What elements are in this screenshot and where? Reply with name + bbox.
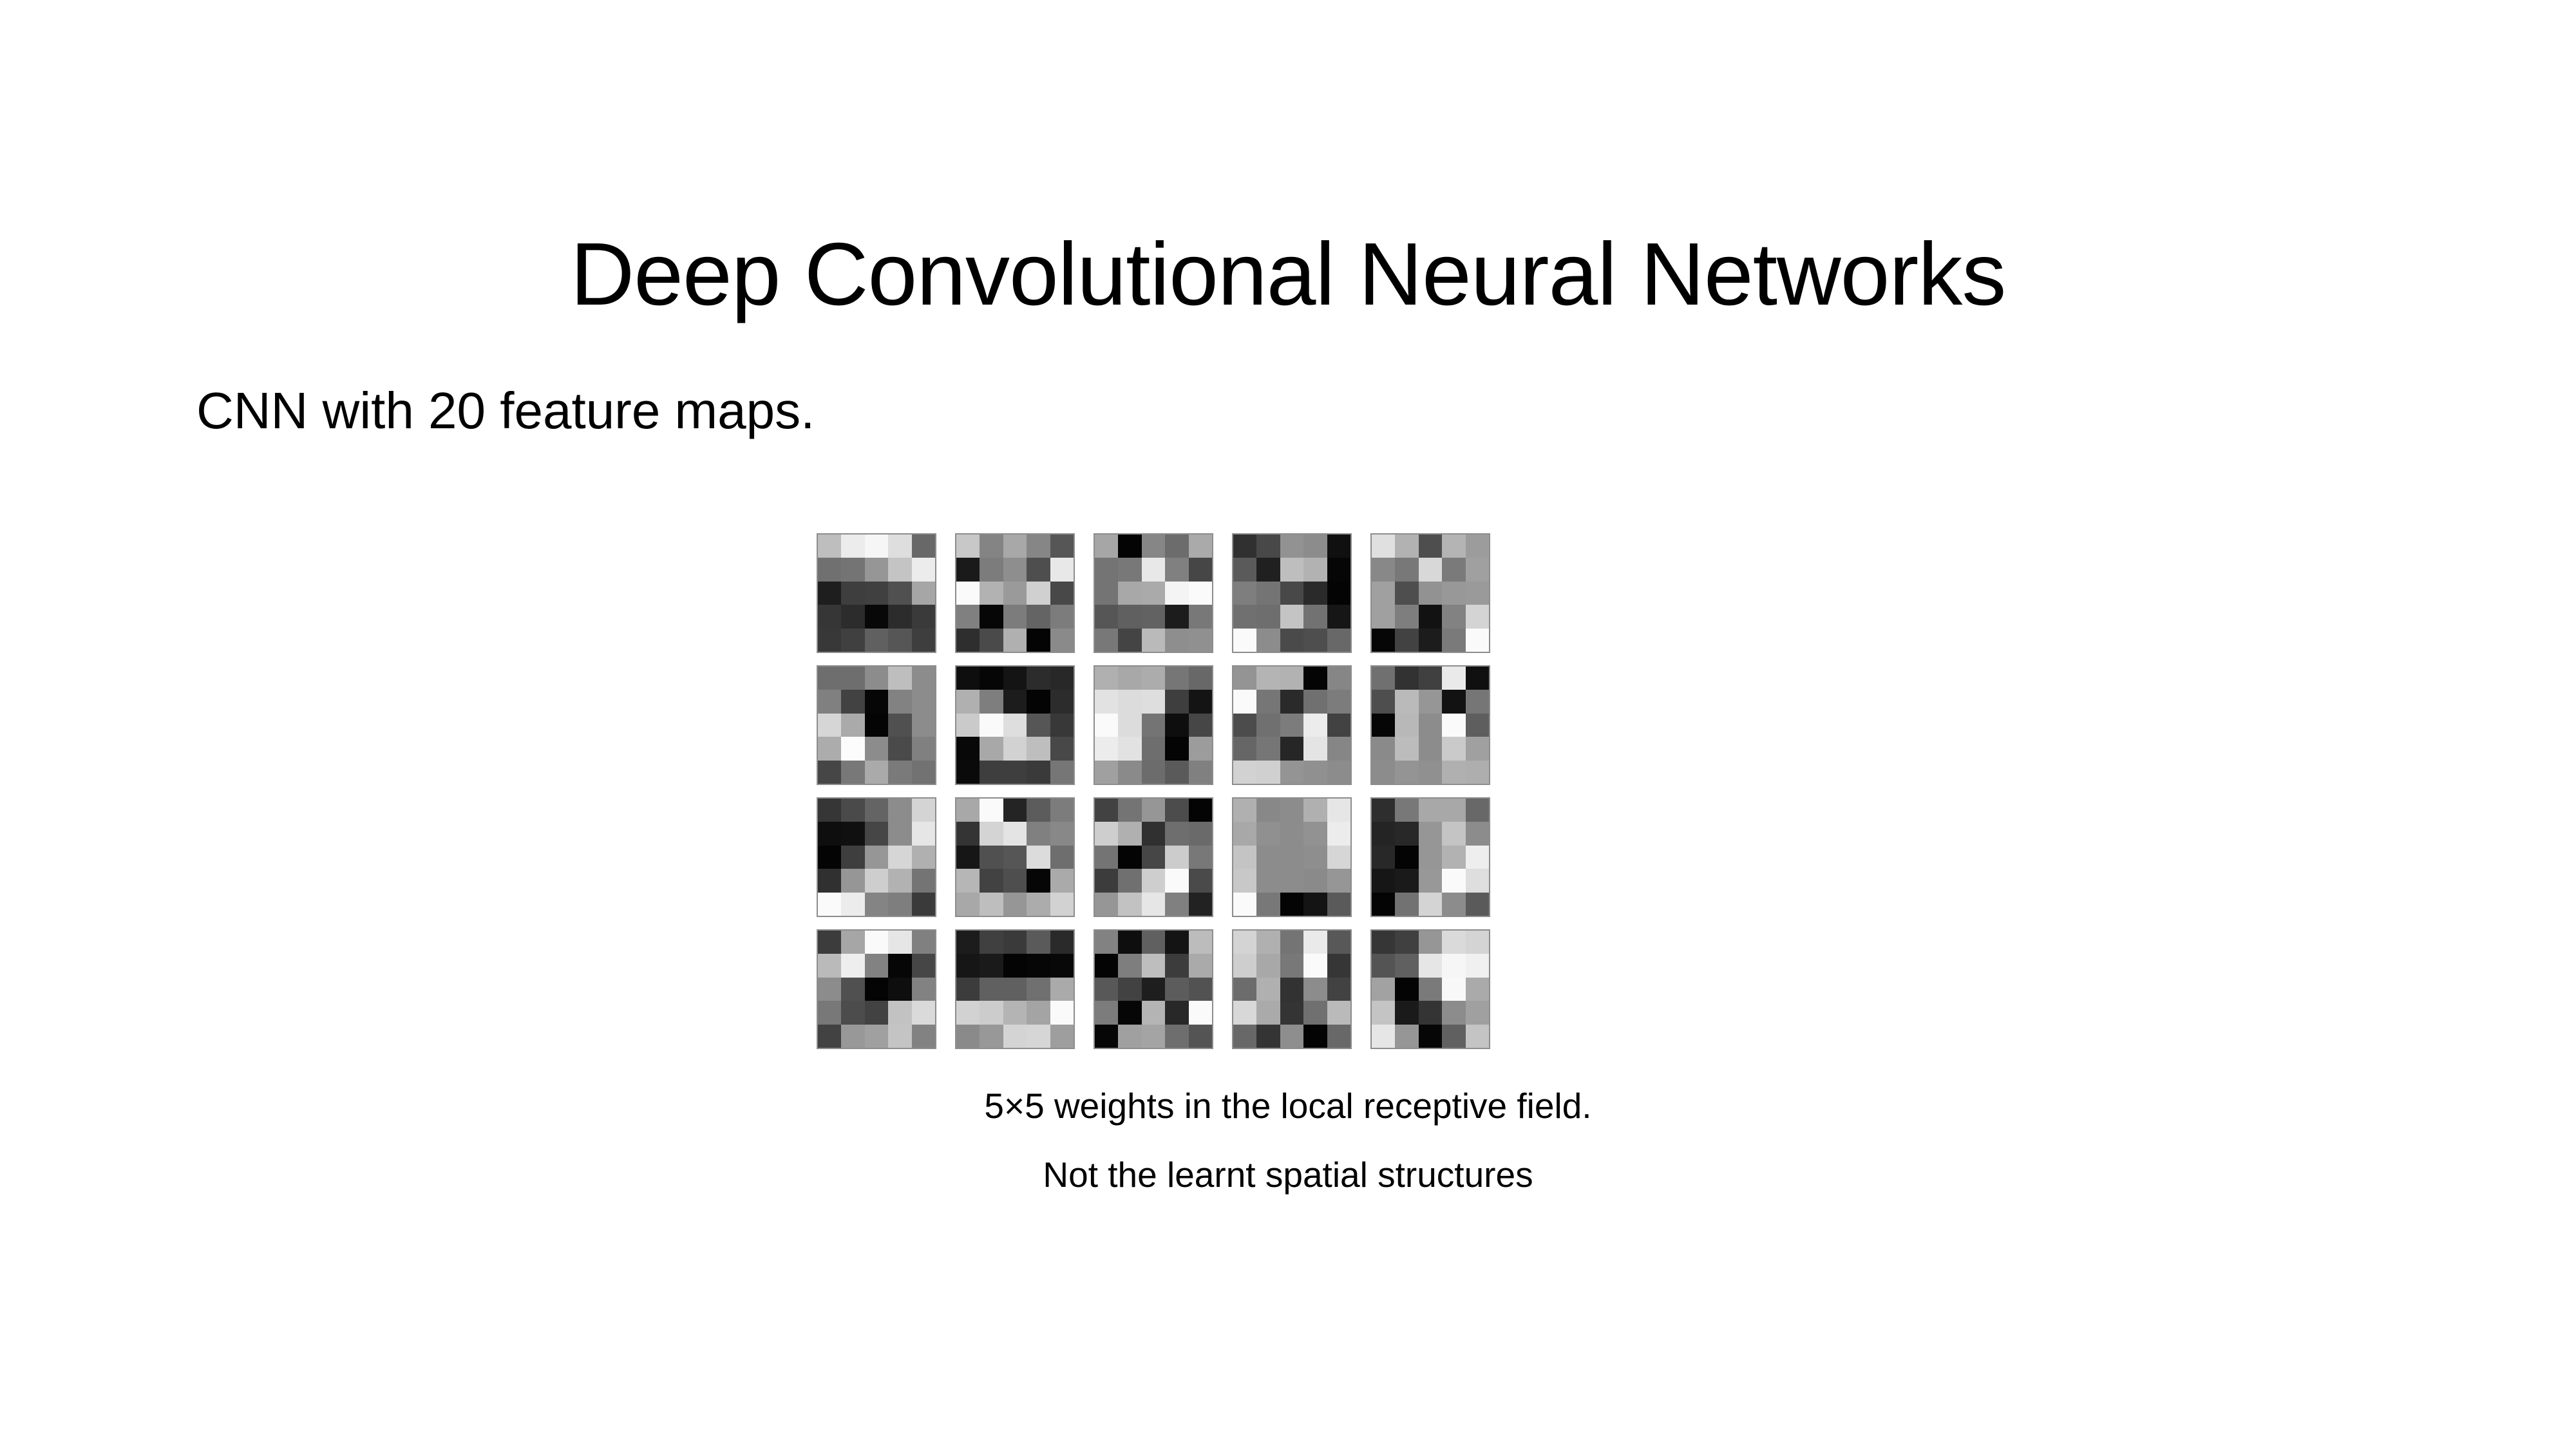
kernel-weight-cell: [1095, 690, 1118, 713]
kernel-weight-cell: [1189, 1001, 1212, 1024]
kernel-weight-cell: [865, 737, 888, 760]
kernel-weight-cell: [1050, 629, 1074, 652]
kernel-weight-cell: [1027, 761, 1050, 784]
kernel-weight-cell: [1165, 931, 1188, 954]
kernel-weight-cell: [956, 893, 980, 916]
kernel-weight-cell: [865, 1001, 888, 1024]
kernel-weight-cell: [1466, 582, 1489, 605]
kernel-tile: [1094, 797, 1213, 917]
kernel-weight-cell: [912, 893, 935, 916]
kernel-weight-cell: [980, 978, 1003, 1001]
kernel-weight-cell: [1142, 714, 1165, 737]
kernel-weight-cell: [1118, 931, 1141, 954]
kernel-weight-cell: [1165, 954, 1188, 977]
kernel-weight-cell: [1442, 1025, 1465, 1048]
kernel-weight-cell: [841, 869, 864, 892]
kernel-weight-cell: [1395, 893, 1418, 916]
caption-line-1: 5×5 weights in the local receptive field…: [0, 1088, 2576, 1124]
kernel-weight-cell: [1327, 535, 1350, 558]
kernel-tile: [1094, 929, 1213, 1049]
kernel-weight-cell: [818, 714, 841, 737]
kernel-weight-cell: [1233, 629, 1256, 652]
kernel-weight-cell: [980, 1025, 1003, 1048]
kernel-weight-cell: [1189, 605, 1212, 628]
kernel-weight-cell: [1256, 535, 1280, 558]
kernel-weight-cell: [1027, 582, 1050, 605]
kernel-weight-cell: [980, 869, 1003, 892]
kernel-weight-cell: [1280, 893, 1303, 916]
kernel-weight-cell: [1165, 1025, 1188, 1048]
kernel-weight-cell: [841, 629, 864, 652]
kernel-weight-cell: [1372, 869, 1395, 892]
kernel-weight-cell: [980, 582, 1003, 605]
kernel-weight-cell: [1442, 978, 1465, 1001]
kernel-weight-cell: [956, 667, 980, 690]
kernel-weight-cell: [1233, 893, 1256, 916]
kernel-weight-cell: [1095, 799, 1118, 822]
kernel-weight-cell: [1003, 869, 1027, 892]
kernel-weight-cell: [1003, 761, 1027, 784]
kernel-weight-cell: [888, 931, 911, 954]
kernel-weight-cell: [980, 714, 1003, 737]
kernel-weight-cell: [1395, 714, 1418, 737]
kernel-weight-cell: [1189, 846, 1212, 869]
kernel-weight-cell: [1050, 846, 1074, 869]
kernel-weight-cell: [1442, 629, 1465, 652]
kernel-weight-cell: [1327, 558, 1350, 581]
page-title: Deep Convolutional Neural Networks: [0, 230, 2576, 319]
kernel-weight-cell: [1165, 761, 1188, 784]
kernel-weight-cell: [888, 737, 911, 760]
kernel-weight-cell: [1327, 1025, 1350, 1048]
kernel-weight-cell: [865, 582, 888, 605]
kernel-weight-cell: [818, 582, 841, 605]
kernel-weight-cell: [865, 893, 888, 916]
kernel-weight-cell: [956, 1025, 980, 1048]
kernel-weight-cell: [1419, 893, 1442, 916]
kernel-weight-cell: [912, 954, 935, 977]
kernel-weight-cell: [1419, 846, 1442, 869]
kernel-weight-cell: [1095, 558, 1118, 581]
kernel-weight-cell: [1003, 535, 1027, 558]
kernel-weight-cell: [1372, 535, 1395, 558]
kernel-weight-cell: [1280, 605, 1303, 628]
kernel-weight-cell: [818, 893, 841, 916]
kernel-weight-cell: [1280, 535, 1303, 558]
kernel-weight-cell: [1003, 822, 1027, 845]
kernel-weight-cell: [912, 761, 935, 784]
kernel-weight-cell: [1256, 737, 1280, 760]
kernel-weight-cell: [1233, 931, 1256, 954]
kernel-weight-cell: [956, 931, 980, 954]
kernel-tile: [955, 797, 1075, 917]
kernel-weight-cell: [1189, 1025, 1212, 1048]
kernel-weight-cell: [980, 761, 1003, 784]
kernel-weight-cell: [888, 978, 911, 1001]
kernel-tile: [1370, 797, 1490, 917]
kernel-weight-cell: [865, 535, 888, 558]
kernel-weight-cell: [1118, 737, 1141, 760]
kernel-weight-cell: [1027, 558, 1050, 581]
caption-line-2: Not the learnt spatial structures: [0, 1157, 2576, 1193]
kernel-weight-cell: [1256, 714, 1280, 737]
kernel-weight-cell: [1003, 714, 1027, 737]
kernel-weight-cell: [818, 931, 841, 954]
kernel-weight-cell: [956, 978, 980, 1001]
kernel-weight-cell: [1327, 893, 1350, 916]
kernel-weight-cell: [1372, 893, 1395, 916]
kernel-weight-cell: [980, 667, 1003, 690]
kernel-weight-cell: [1303, 690, 1327, 713]
kernel-weight-cell: [1442, 761, 1465, 784]
kernel-weight-cell: [1165, 869, 1188, 892]
kernel-weight-cell: [1419, 690, 1442, 713]
kernel-weight-cell: [888, 629, 911, 652]
kernel-weight-cell: [1142, 978, 1165, 1001]
kernel-weight-cell: [1442, 799, 1465, 822]
kernel-weight-cell: [1165, 558, 1188, 581]
kernel-weight-cell: [1395, 846, 1418, 869]
kernel-weight-cell: [1233, 954, 1256, 977]
kernel-weight-cell: [1256, 846, 1280, 869]
kernel-weight-cell: [841, 535, 864, 558]
kernel-weight-cell: [1118, 558, 1141, 581]
kernel-weight-cell: [1303, 893, 1327, 916]
kernel-weight-cell: [1419, 629, 1442, 652]
kernel-weight-cell: [841, 846, 864, 869]
kernel-weight-cell: [1466, 629, 1489, 652]
kernel-weight-cell: [841, 1001, 864, 1024]
kernel-weight-cell: [888, 799, 911, 822]
kernel-weight-cell: [1165, 714, 1188, 737]
kernel-weight-cell: [1395, 869, 1418, 892]
kernel-weight-cell: [1466, 978, 1489, 1001]
kernel-weight-cell: [1118, 822, 1141, 845]
kernel-weight-cell: [1142, 582, 1165, 605]
kernel-weight-cell: [1165, 1001, 1188, 1024]
kernel-weight-cell: [1050, 535, 1074, 558]
kernel-weight-cell: [1442, 690, 1465, 713]
kernel-weight-cell: [1189, 667, 1212, 690]
kernel-weight-cell: [1442, 1001, 1465, 1024]
kernel-weight-cell: [1395, 667, 1418, 690]
kernel-weight-cell: [1118, 667, 1141, 690]
kernel-weight-cell: [980, 737, 1003, 760]
kernel-weight-cell: [841, 582, 864, 605]
kernel-weight-cell: [841, 893, 864, 916]
kernel-weight-cell: [1419, 558, 1442, 581]
kernel-weight-cell: [1165, 893, 1188, 916]
kernel-weight-cell: [1050, 869, 1074, 892]
kernel-weight-cell: [912, 714, 935, 737]
kernel-weight-cell: [1233, 667, 1256, 690]
kernel-weight-cell: [912, 690, 935, 713]
cnn-feature-map-weight-grid: [817, 533, 1492, 1049]
kernel-weight-cell: [1095, 535, 1118, 558]
kernel-weight-cell: [956, 954, 980, 977]
kernel-weight-cell: [1003, 737, 1027, 760]
kernel-weight-cell: [1466, 931, 1489, 954]
kernel-weight-cell: [1118, 714, 1141, 737]
kernel-weight-cell: [1419, 582, 1442, 605]
kernel-weight-cell: [888, 714, 911, 737]
kernel-weight-cell: [1142, 1025, 1165, 1048]
kernel-weight-cell: [980, 846, 1003, 869]
kernel-tile: [1094, 533, 1213, 653]
kernel-weight-cell: [865, 931, 888, 954]
kernel-weight-cell: [888, 869, 911, 892]
kernel-tile: [817, 929, 936, 1049]
kernel-weight-cell: [1027, 931, 1050, 954]
kernel-weight-cell: [1303, 954, 1327, 977]
kernel-weight-cell: [1095, 931, 1118, 954]
kernel-weight-cell: [1372, 931, 1395, 954]
kernel-weight-cell: [1327, 667, 1350, 690]
kernel-weight-cell: [1189, 582, 1212, 605]
kernel-weight-cell: [1027, 893, 1050, 916]
kernel-weight-cell: [1050, 737, 1074, 760]
kernel-weight-cell: [1442, 869, 1465, 892]
kernel-weight-cell: [1118, 605, 1141, 628]
kernel-weight-cell: [1118, 799, 1141, 822]
kernel-tile: [1370, 533, 1490, 653]
kernel-weight-cell: [1372, 690, 1395, 713]
kernel-weight-cell: [1027, 714, 1050, 737]
kernel-weight-cell: [1419, 605, 1442, 628]
kernel-weight-cell: [1003, 931, 1027, 954]
kernel-weight-cell: [1050, 714, 1074, 737]
kernel-weight-cell: [1327, 822, 1350, 845]
kernel-weight-cell: [1327, 978, 1350, 1001]
kernel-weight-cell: [1142, 846, 1165, 869]
kernel-weight-cell: [1142, 690, 1165, 713]
kernel-weight-cell: [841, 714, 864, 737]
kernel-weight-cell: [1395, 1025, 1418, 1048]
kernel-weight-cell: [1327, 690, 1350, 713]
kernel-weight-cell: [1027, 846, 1050, 869]
kernel-weight-cell: [912, 846, 935, 869]
kernel-weight-cell: [1419, 667, 1442, 690]
kernel-weight-cell: [1118, 869, 1141, 892]
kernel-weight-cell: [1095, 1001, 1118, 1024]
kernel-weight-cell: [956, 582, 980, 605]
kernel-weight-cell: [1442, 931, 1465, 954]
kernel-weight-cell: [818, 535, 841, 558]
kernel-weight-cell: [1050, 1001, 1074, 1024]
kernel-weight-cell: [1189, 714, 1212, 737]
body-text-line: CNN with 20 feature maps.: [196, 385, 815, 437]
kernel-weight-cell: [1233, 761, 1256, 784]
kernel-weight-cell: [1419, 737, 1442, 760]
kernel-weight-cell: [912, 799, 935, 822]
kernel-weight-cell: [1050, 761, 1074, 784]
slide-canvas: Deep Convolutional Neural Networks CNN w…: [0, 0, 2576, 1449]
kernel-weight-cell: [1256, 954, 1280, 977]
kernel-weight-cell: [841, 558, 864, 581]
kernel-weight-cell: [1442, 667, 1465, 690]
kernel-weight-cell: [1142, 799, 1165, 822]
kernel-weight-cell: [1256, 869, 1280, 892]
kernel-weight-cell: [1303, 1001, 1327, 1024]
kernel-weight-cell: [1419, 954, 1442, 977]
kernel-weight-cell: [1050, 1025, 1074, 1048]
kernel-weight-cell: [912, 629, 935, 652]
kernel-weight-cell: [1142, 629, 1165, 652]
kernel-weight-cell: [1280, 667, 1303, 690]
kernel-weight-cell: [1442, 846, 1465, 869]
kernel-weight-cell: [841, 954, 864, 977]
kernel-weight-cell: [841, 978, 864, 1001]
kernel-weight-cell: [1280, 799, 1303, 822]
kernel-weight-cell: [912, 558, 935, 581]
kernel-weight-cell: [1466, 893, 1489, 916]
kernel-weight-cell: [1233, 1001, 1256, 1024]
kernel-weight-cell: [1165, 582, 1188, 605]
kernel-weight-cell: [980, 799, 1003, 822]
kernel-weight-cell: [1327, 869, 1350, 892]
kernel-weight-cell: [956, 629, 980, 652]
kernel-tile: [1232, 797, 1352, 917]
kernel-weight-cell: [1142, 737, 1165, 760]
kernel-weight-cell: [1050, 558, 1074, 581]
kernel-weight-cell: [888, 667, 911, 690]
kernel-weight-cell: [1233, 535, 1256, 558]
kernel-weight-cell: [1233, 1025, 1256, 1048]
kernel-weight-cell: [980, 558, 1003, 581]
kernel-weight-cell: [1372, 558, 1395, 581]
kernel-weight-cell: [956, 799, 980, 822]
kernel-weight-cell: [841, 822, 864, 845]
kernel-weight-cell: [888, 1001, 911, 1024]
kernel-weight-cell: [818, 605, 841, 628]
kernel-weight-cell: [865, 761, 888, 784]
kernel-weight-cell: [1372, 822, 1395, 845]
kernel-weight-cell: [1280, 629, 1303, 652]
kernel-weight-cell: [1280, 822, 1303, 845]
kernel-weight-cell: [956, 737, 980, 760]
kernel-weight-cell: [841, 761, 864, 784]
kernel-weight-cell: [912, 667, 935, 690]
kernel-weight-cell: [1165, 605, 1188, 628]
kernel-weight-cell: [1419, 761, 1442, 784]
kernel-tile: [1370, 665, 1490, 785]
kernel-weight-cell: [1303, 931, 1327, 954]
kernel-weight-cell: [865, 954, 888, 977]
kernel-weight-cell: [1442, 582, 1465, 605]
kernel-weight-cell: [1095, 822, 1118, 845]
kernel-weight-cell: [912, 582, 935, 605]
kernel-weight-cell: [1027, 535, 1050, 558]
kernel-weight-cell: [1095, 761, 1118, 784]
kernel-weight-cell: [818, 1025, 841, 1048]
kernel-weight-cell: [1118, 629, 1141, 652]
kernel-weight-cell: [1165, 667, 1188, 690]
kernel-weight-cell: [1256, 558, 1280, 581]
kernel-weight-cell: [1466, 761, 1489, 784]
kernel-weight-cell: [980, 931, 1003, 954]
kernel-weight-cell: [1142, 893, 1165, 916]
kernel-weight-cell: [865, 978, 888, 1001]
kernel-weight-cell: [1003, 629, 1027, 652]
kernel-weight-cell: [818, 869, 841, 892]
kernel-weight-cell: [1142, 605, 1165, 628]
kernel-weight-cell: [1095, 1025, 1118, 1048]
kernel-weight-cell: [1118, 761, 1141, 784]
kernel-weight-cell: [912, 931, 935, 954]
kernel-tile: [817, 665, 936, 785]
kernel-weight-cell: [1466, 1025, 1489, 1048]
kernel-weight-cell: [818, 690, 841, 713]
kernel-weight-cell: [1003, 690, 1027, 713]
kernel-weight-cell: [1233, 869, 1256, 892]
kernel-weight-cell: [1189, 737, 1212, 760]
kernel-weight-cell: [888, 535, 911, 558]
kernel-weight-cell: [1050, 605, 1074, 628]
kernel-weight-cell: [1256, 799, 1280, 822]
kernel-weight-cell: [818, 667, 841, 690]
kernel-tile: [1370, 929, 1490, 1049]
kernel-weight-cell: [1095, 605, 1118, 628]
kernel-weight-cell: [912, 1001, 935, 1024]
kernel-weight-cell: [1303, 667, 1327, 690]
kernel-weight-cell: [1419, 931, 1442, 954]
kernel-weight-cell: [1003, 558, 1027, 581]
kernel-weight-cell: [1003, 582, 1027, 605]
kernel-weight-cell: [1095, 869, 1118, 892]
kernel-weight-cell: [1303, 737, 1327, 760]
kernel-weight-cell: [865, 822, 888, 845]
kernel-weight-cell: [1003, 667, 1027, 690]
kernel-weight-cell: [1395, 1001, 1418, 1024]
kernel-weight-cell: [841, 799, 864, 822]
kernel-weight-cell: [1419, 535, 1442, 558]
kernel-weight-cell: [1372, 1025, 1395, 1048]
kernel-tile: [955, 665, 1075, 785]
kernel-weight-cell: [980, 954, 1003, 977]
kernel-weight-cell: [1303, 714, 1327, 737]
kernel-weight-cell: [956, 822, 980, 845]
kernel-weight-cell: [1003, 978, 1027, 1001]
kernel-weight-cell: [1419, 1001, 1442, 1024]
kernel-weight-cell: [1280, 1001, 1303, 1024]
kernel-weight-cell: [1050, 893, 1074, 916]
kernel-weight-cell: [841, 690, 864, 713]
kernel-weight-cell: [888, 558, 911, 581]
kernel-weight-cell: [1256, 761, 1280, 784]
kernel-weight-cell: [1280, 869, 1303, 892]
kernel-weight-cell: [865, 558, 888, 581]
kernel-weight-cell: [1395, 605, 1418, 628]
kernel-weight-cell: [888, 582, 911, 605]
kernel-weight-cell: [841, 931, 864, 954]
kernel-weight-cell: [1327, 1001, 1350, 1024]
kernel-weight-cell: [956, 761, 980, 784]
kernel-weight-cell: [888, 822, 911, 845]
kernel-weight-cell: [1095, 629, 1118, 652]
kernel-weight-cell: [1165, 737, 1188, 760]
kernel-weight-cell: [1303, 799, 1327, 822]
kernel-tile: [1232, 533, 1352, 653]
kernel-weight-cell: [1466, 535, 1489, 558]
kernel-weight-cell: [956, 1001, 980, 1024]
kernel-tile: [955, 533, 1075, 653]
kernel-weight-cell: [980, 1001, 1003, 1024]
kernel-weight-cell: [912, 869, 935, 892]
kernel-weight-cell: [1466, 846, 1489, 869]
kernel-weight-cell: [1303, 535, 1327, 558]
kernel-weight-cell: [818, 822, 841, 845]
kernel-weight-cell: [1280, 714, 1303, 737]
